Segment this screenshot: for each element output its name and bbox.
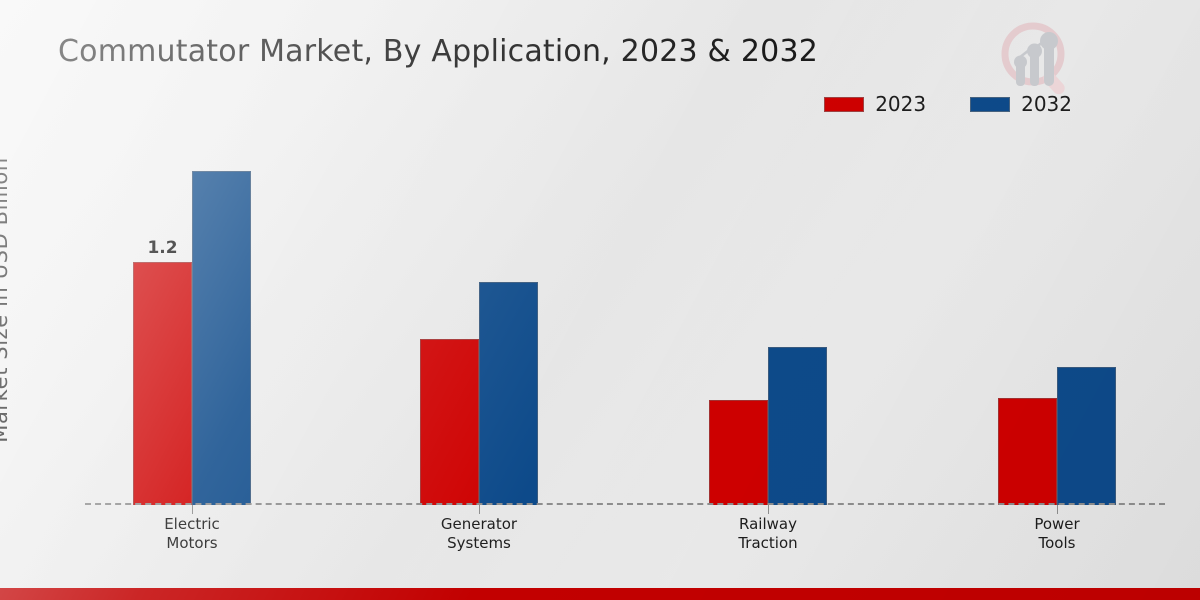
bar-2032[interactable] [1057,367,1116,505]
x-axis-tick [1057,505,1058,514]
category-label-line: Electric [82,515,302,534]
x-axis-category-label: GeneratorSystems [369,515,589,553]
bar-2023[interactable] [709,400,768,505]
bar-2023[interactable] [420,339,479,505]
x-axis-baseline [85,503,1165,505]
legend-item-2023[interactable]: 2023 [824,92,926,116]
category-label-line: Power [947,515,1167,534]
plot-area: 1.2ElectricMotorsGeneratorSystemsRailway… [85,130,1165,505]
category-label-line: Traction [658,534,878,553]
chart-container: Commutator Market, By Application, 2023 … [0,0,1200,600]
x-axis-category-label: ElectricMotors [82,515,302,553]
category-label-line: Generator [369,515,589,534]
legend-label-2032: 2032 [1021,92,1072,116]
bar-2032[interactable] [192,171,251,505]
bar-2023[interactable] [998,398,1057,505]
legend-label-2023: 2023 [875,92,926,116]
x-axis-category-label: RailwayTraction [658,515,878,553]
category-label-line: Railway [658,515,878,534]
x-axis-tick [479,505,480,514]
x-axis-tick [192,505,193,514]
legend-swatch-2023 [824,97,864,112]
x-axis-tick [768,505,769,514]
category-label-line: Tools [947,534,1167,553]
bar-chart-icon [1014,32,1058,86]
bar-2023[interactable]: 1.2 [133,262,192,505]
bar-2032[interactable] [479,282,538,505]
bar-group: 1.2ElectricMotors [133,130,251,505]
bar-2032[interactable] [768,347,827,505]
bar-group: PowerTools [998,130,1116,505]
bottom-accent-band [0,588,1200,600]
bar-group: GeneratorSystems [420,130,538,505]
legend-swatch-2032 [970,97,1010,112]
legend-item-2032[interactable]: 2032 [970,92,1072,116]
bar-value-label: 1.2 [147,238,177,258]
category-label-line: Systems [369,534,589,553]
chart-title: Commutator Market, By Application, 2023 … [58,34,818,69]
bar-group: RailwayTraction [709,130,827,505]
category-label-line: Motors [82,534,302,553]
chart-legend: 2023 2032 [824,92,1072,116]
x-axis-category-label: PowerTools [947,515,1167,553]
